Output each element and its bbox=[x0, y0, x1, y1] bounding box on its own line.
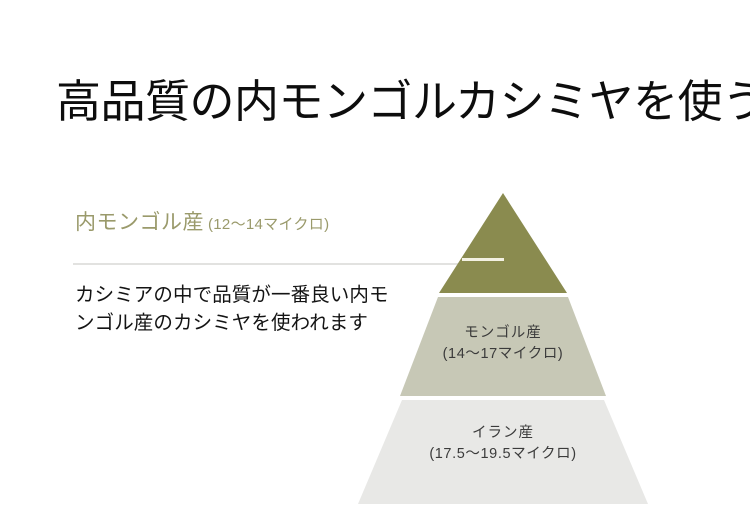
pyramid-label-bottom: イラン産 (17.5〜19.5マイクロ) bbox=[352, 423, 654, 465]
callout-connector-tip bbox=[462, 258, 504, 261]
pyramid-label-bottom-range: (17.5〜19.5マイクロ) bbox=[352, 444, 654, 465]
pyramid-label-middle: モンゴル産 (14〜17マイクロ) bbox=[379, 323, 627, 365]
slide-canvas: 高品質の内モンゴルカシミヤを使う 内モンゴル産(12〜14マイクロ) カシミアの… bbox=[0, 0, 750, 519]
page-title: 高品質の内モンゴルカシミヤを使う bbox=[56, 77, 716, 127]
callout-heading-range: (12〜14マイクロ) bbox=[208, 216, 329, 233]
pyramid-label-middle-range: (14〜17マイクロ) bbox=[379, 344, 627, 365]
pyramid-label-middle-name: モンゴル産 bbox=[379, 323, 627, 344]
pyramid-label-bottom-name: イラン産 bbox=[352, 423, 654, 444]
pyramid-tier-top bbox=[439, 193, 567, 293]
callout-heading-main: 内モンゴル産 bbox=[75, 211, 204, 234]
